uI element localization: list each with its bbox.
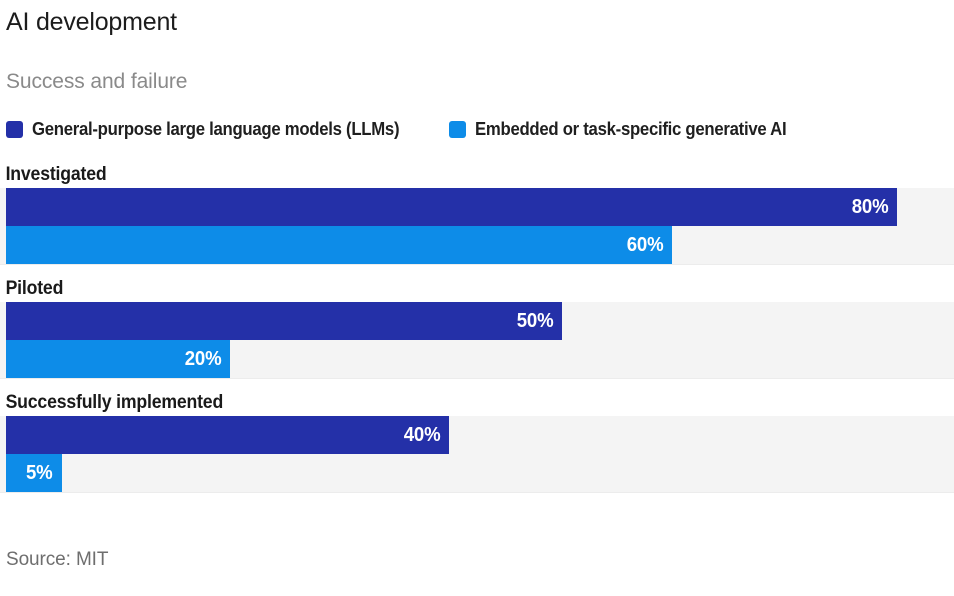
legend-swatch-icon-embedded — [449, 121, 466, 138]
chart-legend: General-purpose large language models (L… — [6, 118, 832, 140]
chart-container: AI development Success and failure Gener… — [0, 0, 954, 596]
group-divider — [0, 492, 954, 493]
group-label-successfully-implemented: Successfully implemented — [0, 390, 887, 416]
group-label-investigated: Investigated — [0, 162, 887, 188]
legend-item-llms[interactable]: General-purpose large language models (L… — [6, 119, 427, 140]
legend-item-embedded[interactable]: Embedded or task-specific generative AI — [449, 119, 810, 140]
bar-successfully-implemented-llms[interactable]: 40% — [6, 416, 449, 454]
chart-title: AI development — [6, 6, 177, 38]
bar-investigated-llms[interactable]: 80% — [6, 188, 897, 226]
bar-group-successfully-implemented: Successfully implemented 40% 5% — [0, 390, 954, 493]
bar-value-piloted-llms: 50% — [516, 311, 553, 331]
bar-track-investigated-embedded: 60% — [0, 226, 954, 264]
chart-subtitle: Success and failure — [6, 68, 187, 96]
chart-source: Source: MIT — [6, 549, 108, 571]
legend-swatch-icon-llms — [6, 121, 23, 138]
bar-investigated-embedded[interactable]: 60% — [6, 226, 672, 264]
bar-value-piloted-embedded: 20% — [184, 349, 221, 369]
bar-value-investigated-embedded: 60% — [626, 235, 663, 255]
bar-piloted-llms[interactable]: 50% — [6, 302, 562, 340]
bar-track-piloted-embedded: 20% — [0, 340, 954, 378]
bar-value-investigated-llms: 80% — [851, 197, 888, 217]
bar-groups: Investigated 80% 60% Piloted 50% — [0, 162, 954, 493]
bar-group-piloted: Piloted 50% 20% — [0, 276, 954, 390]
legend-label-embedded: Embedded or task-specific generative AI — [475, 119, 786, 140]
bar-group-investigated: Investigated 80% 60% — [0, 162, 954, 276]
legend-label-llms: General-purpose large language models (L… — [32, 119, 399, 140]
group-spacer — [0, 265, 954, 276]
bar-track-piloted-llms: 50% — [0, 302, 954, 340]
bar-successfully-implemented-embedded[interactable]: 5% — [6, 454, 62, 492]
group-spacer — [0, 379, 954, 390]
bar-value-successfully-implemented-embedded: 5% — [26, 463, 53, 483]
bar-track-successfully-implemented-embedded: 5% — [0, 454, 954, 492]
bar-track-investigated-llms: 80% — [0, 188, 954, 226]
group-label-piloted: Piloted — [0, 276, 887, 302]
bar-value-successfully-implemented-llms: 40% — [403, 425, 440, 445]
bar-track-successfully-implemented-llms: 40% — [0, 416, 954, 454]
bar-piloted-embedded[interactable]: 20% — [6, 340, 230, 378]
